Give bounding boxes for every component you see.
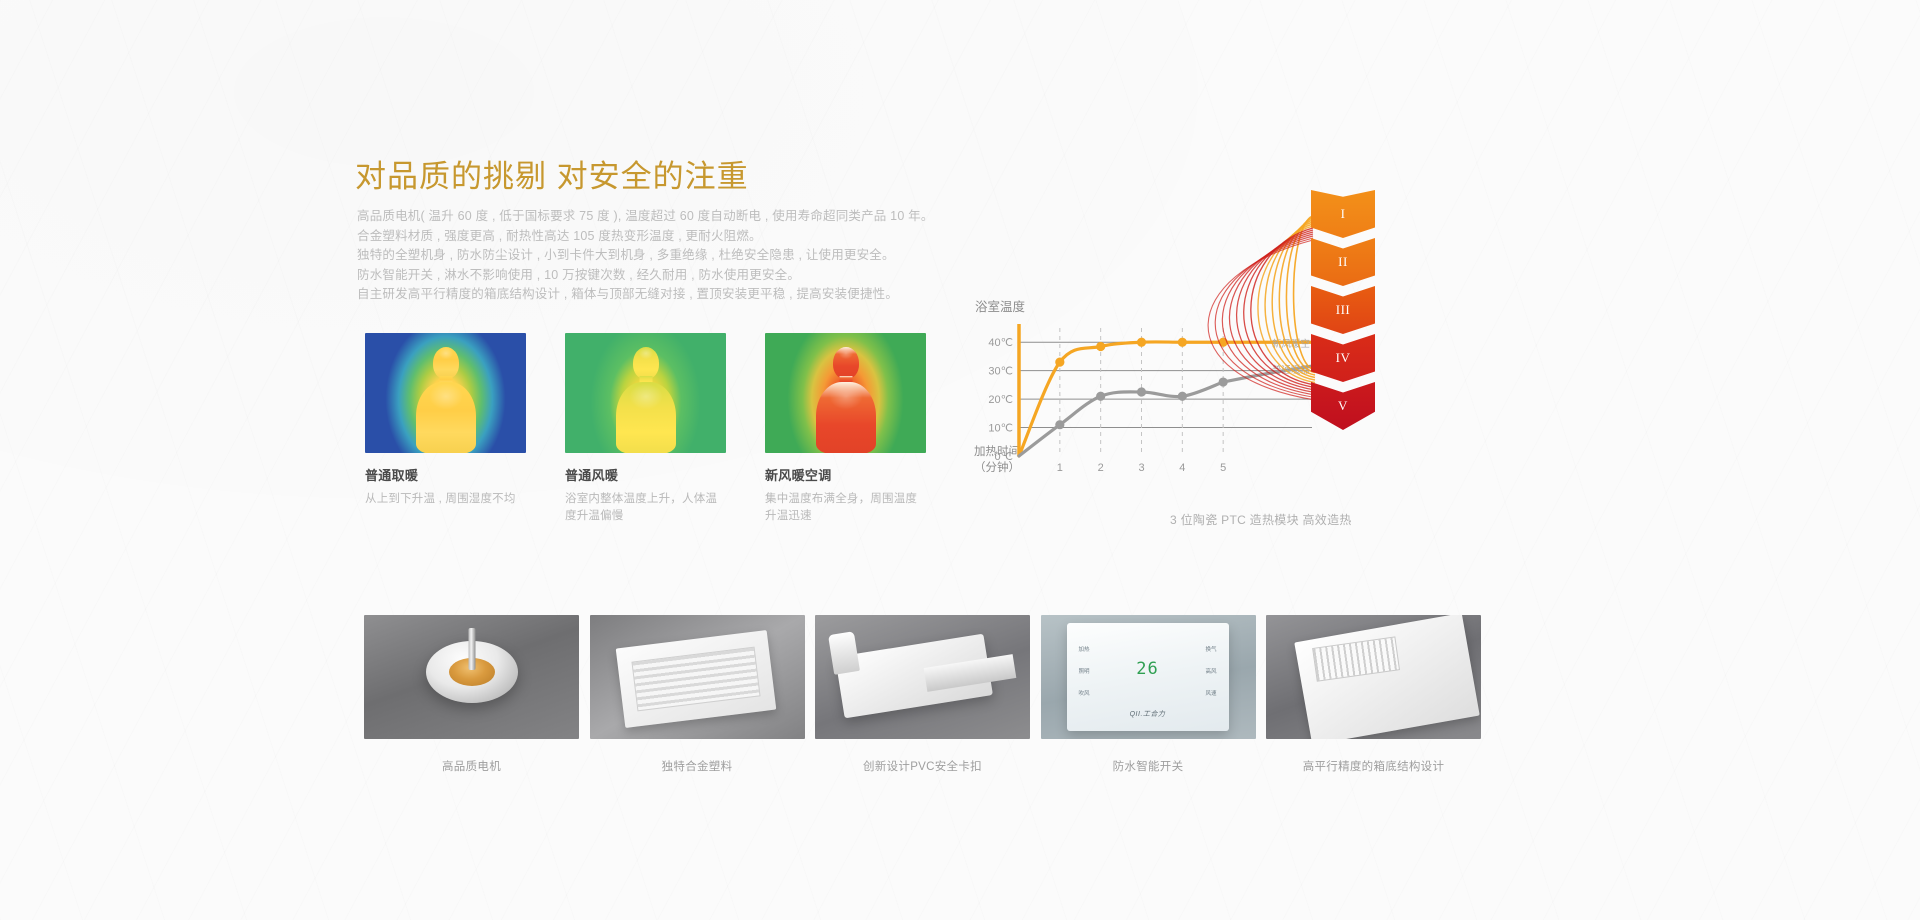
ptc-segment-v: V [1311,382,1375,430]
product-image-pvc-clip [815,615,1030,739]
intro-line-1: 高品质电机( 温升 60 度 , 低于国标要求 75 度 ), 温度超过 60 … [357,207,997,227]
product-caption: 高平行精度的箱底结构设计 [1266,758,1481,774]
product-photo-strip: 高品质电机 独特合金塑料 创新设计PVC安全卡扣 加热 换气 [364,615,1481,774]
switch-panel-shape: 加热 换气 照明 高风 吹风 风速 26 QII.工合力 [1067,623,1229,731]
product-caption: 创新设计PVC安全卡扣 [815,758,1030,774]
panel-label-0: 加热 [1079,645,1090,653]
svg-text:3: 3 [1138,462,1144,474]
ptc-caption: 3 位陶瓷 PTC 造热模块 高效造热 [1170,511,1352,528]
intro-line-3: 独特的全塑机身 , 防水防尘设计 , 小到卡件大到机身 , 多重绝缘 , 杜绝安… [357,246,997,266]
chassis-body-shape [1294,615,1479,739]
thermal-card-3: 新风暖空调 集中温度布满全身，周围温度升温迅速 [765,333,926,525]
product-image-motor [364,615,579,739]
thermal-figure-icon [607,347,685,453]
thermal-figure-icon [807,347,885,453]
intro-paragraphs: 高品质电机( 温升 60 度 , 低于国标要求 75 度 ), 温度超过 60 … [357,207,997,305]
thermal-card-desc: 浴室内整体温度上升，人体温度升温偏慢 [565,491,726,525]
product-image-waterproof-switch: 加热 换气 照明 高风 吹风 风速 26 QII.工合力 [1041,615,1256,739]
thermal-comparison-row: 普通取暖 从上到下升温 , 周围湿度不均 普通风暖 浴室内整体温度上升，人体温度… [365,333,926,525]
page-stage: 对品质的挑剔 对安全的注重 高品质电机( 温升 60 度 , 低于国标要求 75… [0,0,1920,920]
chassis-grille-shape [1312,636,1400,681]
vent-louver-shape [631,647,760,712]
page-title: 对品质的挑剔 对安全的注重 [355,151,749,196]
intro-line-4: 防水智能开关 , 淋水不影响使用 , 10 万按键次数 , 经久耐用 , 防水使… [357,266,997,286]
thermal-image-ordinary-heating [365,333,526,453]
svg-text:40℃: 40℃ [988,337,1013,349]
thermal-image-ordinary-air-warm [565,333,726,453]
ptc-segment-label: I [1341,206,1346,222]
svg-text:2: 2 [1098,462,1104,474]
panel-label-5: 风速 [1205,689,1216,697]
ptc-segment-i: I [1311,190,1375,238]
product-item-waterproof-switch[interactable]: 加热 换气 照明 高风 吹风 风速 26 QII.工合力 防水智能开关 [1041,615,1256,774]
svg-text:1: 1 [1057,462,1063,474]
panel-temperature-display: 26 [1136,659,1158,679]
product-image-alloy-plastic [590,615,805,739]
ptc-segment-iii: III [1311,286,1375,334]
thermal-card-desc: 集中温度布满全身，周围温度升温迅速 [765,491,926,525]
thermal-card-2: 普通风暖 浴室内整体温度上升，人体温度升温偏慢 [565,333,726,525]
product-caption: 高品质电机 [364,758,579,774]
chart-title: 浴室温度 [975,296,1025,315]
motor-shaft-shape [468,628,475,670]
thermal-card-desc: 从上到下升温 , 周围湿度不均 [365,491,526,508]
ptc-segment-bar: IIIIIIIVV [1311,190,1375,430]
thermal-card-1: 普通取暖 从上到下升温 , 周围湿度不均 [365,333,526,525]
product-item-motor[interactable]: 高品质电机 [364,615,579,774]
ptc-segment-iv: IV [1311,334,1375,382]
vent-panel-shape [615,630,776,728]
ptc-heat-ray [1208,240,1315,400]
svg-text:20℃: 20℃ [988,394,1013,406]
ptc-heater-module: IIIIIIIVV [1135,190,1465,440]
svg-text:0℃: 0℃ [995,451,1013,463]
svg-text:10℃: 10℃ [988,423,1013,435]
thermal-figure-icon [407,347,485,453]
panel-label-4: 吹风 [1079,689,1090,697]
panel-label-3: 高风 [1205,667,1216,675]
product-item-alloy-plastic[interactable]: 独特合金塑料 [590,615,805,774]
panel-label-2: 照明 [1079,667,1090,675]
ptc-segment-label: IV [1336,350,1351,366]
ptc-segment-ii: II [1311,238,1375,286]
product-item-chassis[interactable]: 高平行精度的箱底结构设计 [1266,615,1481,774]
clip-hook-shape [828,631,860,675]
product-caption: 防水智能开关 [1041,758,1256,774]
thermal-card-title: 普通风暖 [565,465,726,484]
thermal-card-title: 新风暖空调 [765,465,926,484]
ptc-segment-label: II [1338,254,1348,270]
product-image-chassis [1266,615,1481,739]
thermal-card-title: 普通取暖 [365,465,526,484]
panel-label-1: 换气 [1205,645,1216,653]
thermal-image-fresh-air-warm-ac [765,333,926,453]
intro-line-2: 合金塑料材质 , 强度更高 , 耐热性高达 105 度热变形温度 , 更耐火阻燃… [357,227,997,247]
svg-text:4: 4 [1179,462,1185,474]
ptc-heat-rays-icon [1135,190,1465,440]
product-item-pvc-clip[interactable]: 创新设计PVC安全卡扣 [815,615,1030,774]
svg-text:5: 5 [1220,462,1226,474]
intro-line-5: 自主研发高平行精度的箱底结构设计 , 箱体与顶部无缝对接 , 置顶安装更平稳 ,… [357,285,997,305]
product-caption: 独特合金塑料 [590,758,805,774]
svg-text:30℃: 30℃ [988,366,1013,378]
ptc-segment-label: V [1338,398,1348,414]
panel-brand-logo: QII.工合力 [1130,709,1166,719]
ptc-segment-label: III [1336,302,1351,318]
